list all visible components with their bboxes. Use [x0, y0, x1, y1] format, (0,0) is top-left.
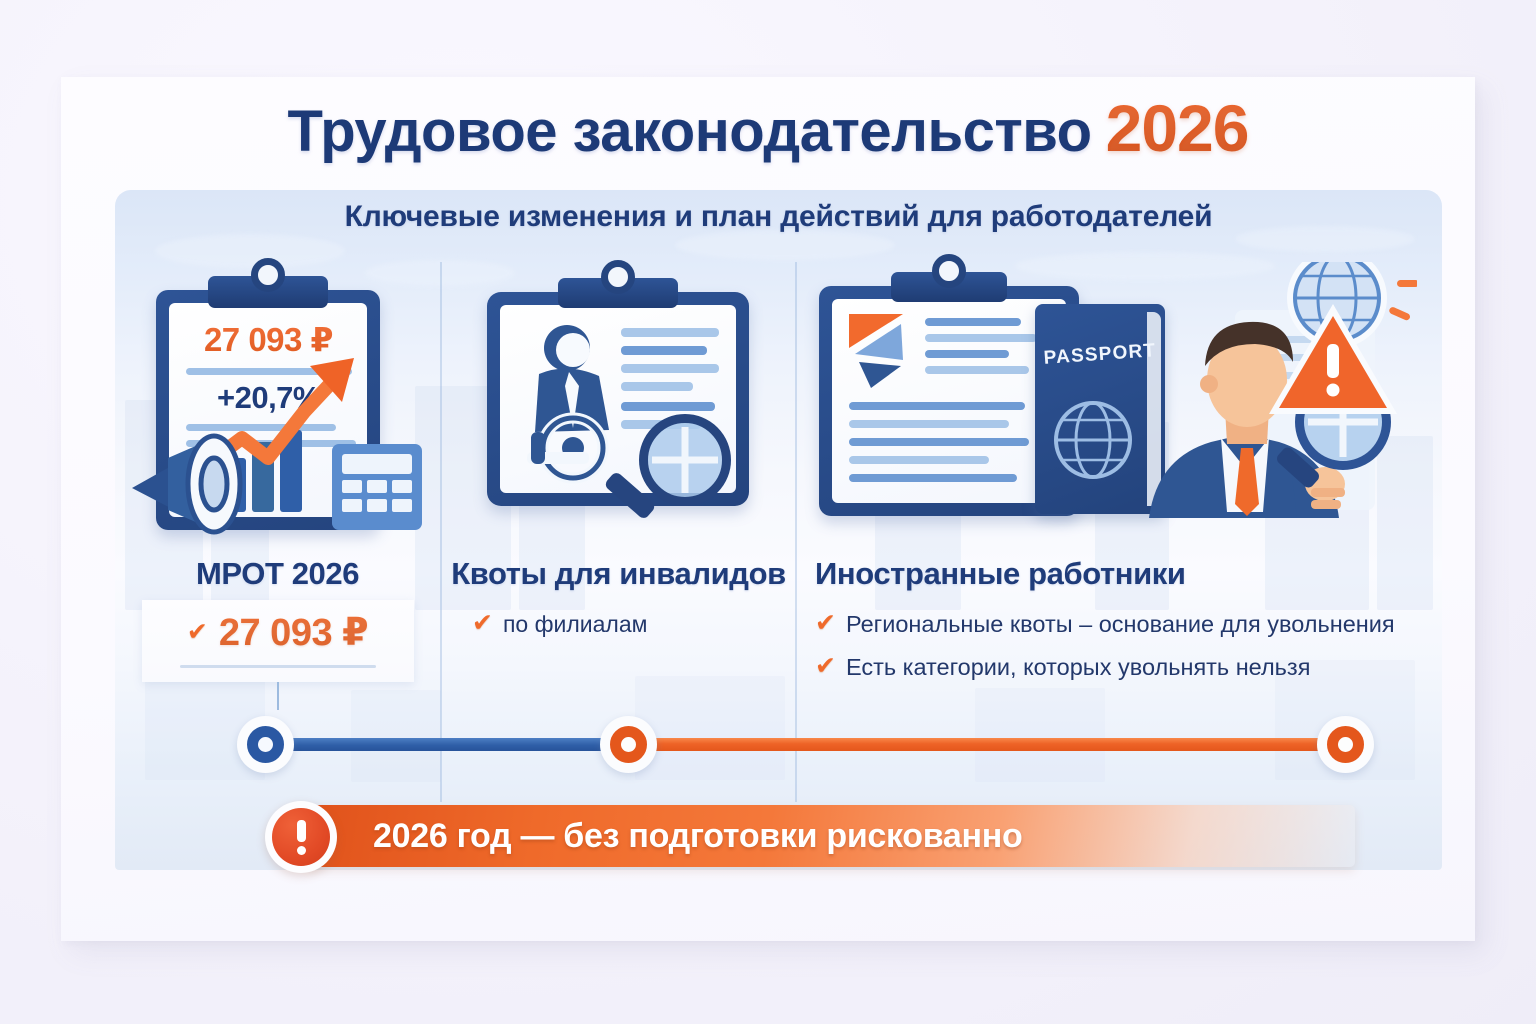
timeline-connector — [277, 682, 279, 710]
card-title-foreign-workers: Иностранные работники — [797, 556, 1442, 592]
cards-row: 27 093 ₽ +20,7% — [115, 262, 1442, 802]
exclamation-stem-icon — [297, 820, 306, 842]
page-title: Трудовое законодательство2026 — [61, 95, 1475, 161]
card-mrot: 27 093 ₽ +20,7% — [115, 262, 440, 802]
exclamation-dot-icon — [297, 846, 306, 855]
list-item: ✔ Региональные квоты – основание для уво… — [815, 608, 1432, 641]
alert-text: 2026 год — без подготовки рискованно — [307, 817, 1022, 856]
check-icon: ✔ — [187, 617, 208, 648]
list-item-label: по филиалам — [503, 608, 648, 641]
magnifier-icon — [639, 414, 731, 506]
mrot-illustration: 27 093 ₽ +20,7% — [118, 262, 438, 550]
check-icon: ✔ — [815, 608, 836, 639]
card-title-mrot: МРОТ 2026 — [115, 556, 440, 592]
card-foreign-workers: PASSPORT — [795, 262, 1442, 802]
card-quotas: Квоты для инвалидов ✔ по филиалам — [440, 262, 795, 802]
list-item-label: Региональные квоты – основание для уволь… — [846, 608, 1395, 641]
alert-banner: 2026 год — без подготовки рискованно — [265, 801, 1355, 873]
mrot-amount-card: ✔ 27 093 ₽ — [142, 600, 414, 682]
wheelchair-person-icon — [443, 262, 795, 550]
list-item: ✔ по филиалам — [472, 608, 795, 641]
title-year-text: 2026 — [1106, 91, 1249, 165]
warning-triangle-icon — [797, 262, 1417, 550]
mrot-amount-value: 27 093 ₽ — [219, 610, 368, 655]
exclamation-disc — [272, 808, 330, 866]
title-main-text: Трудовое законодательство — [288, 99, 1092, 164]
quotas-illustration — [443, 262, 795, 550]
check-icon: ✔ — [472, 608, 493, 639]
amount-underline — [180, 665, 376, 668]
quotas-bullet-list: ✔ по филиалам — [442, 608, 795, 641]
calculator-icon — [118, 262, 438, 550]
illustrated-panel: Ключевые изменения и план действий для р… — [115, 190, 1442, 870]
subtitle-text: Ключевые изменения и план действий для р… — [115, 200, 1442, 234]
foreign-workers-bullet-list: ✔ Региональные квоты – основание для уво… — [797, 608, 1442, 685]
foreign-workers-illustration: PASSPORT — [797, 262, 1442, 550]
alert-bar: 2026 год — без подготовки рискованно — [307, 805, 1355, 867]
exclamation-circle-icon — [265, 801, 337, 873]
infographic-canvas: Трудовое законодательство2026 — [0, 0, 1536, 1024]
card-title-quotas: Квоты для инвалидов — [442, 556, 795, 592]
list-item-label: Есть категории, которых увольнять нельзя — [846, 651, 1310, 684]
check-icon: ✔ — [815, 651, 836, 682]
list-item: ✔ Есть категории, которых увольнять нель… — [815, 651, 1432, 684]
